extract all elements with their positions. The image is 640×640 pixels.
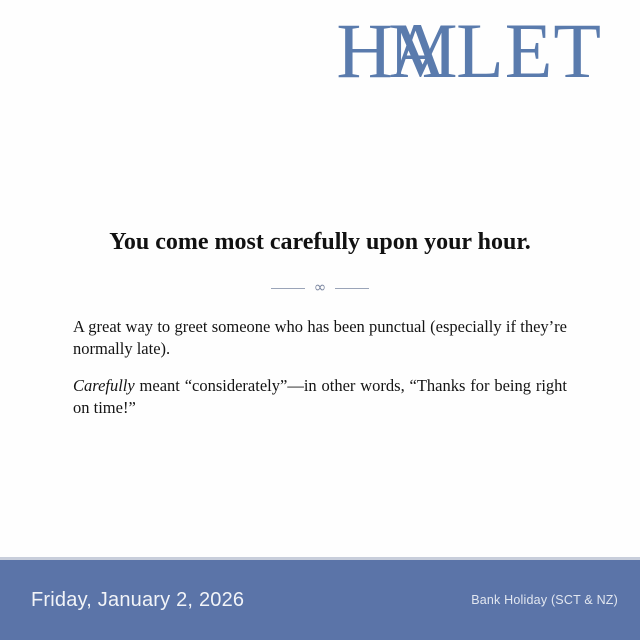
ornament-divider: ∞ [0,281,640,296]
infinity-flourish-icon: ∞ [314,280,327,295]
paragraph-2-lead-italic: Carefully [73,376,135,395]
commentary-paragraph-2: Carefully meant “considerately”—in other… [73,375,567,420]
quote-card: HMAMLET You come most carefully upon you… [0,0,640,640]
footer-bar: Friday, January 2, 2026 Bank Holiday (SC… [0,560,640,640]
paragraph-2-text: meant “considerately”—in other words, “T… [73,376,567,417]
commentary-body: A great way to greet someone who has bee… [73,316,567,419]
logo-am-ligature: MAM [394,12,456,90]
hamlet-logo: HMAMLET [336,12,602,90]
logo-letters-let: LET [456,12,602,90]
masthead: HMAMLET [0,0,620,120]
footer-date: Friday, January 2, 2026 [31,589,244,612]
ornament-rule-left [271,288,305,289]
paragraph-1-text: A great way to greet someone who has bee… [73,317,567,358]
commentary-paragraph-1: A great way to greet someone who has bee… [73,316,567,361]
ornament-rule-right [335,288,369,289]
logo-letter-m: M [388,12,458,90]
logo-letter-h: H [336,12,393,90]
footer-holiday-note: Bank Holiday (SCT & NZ) [471,593,618,607]
quote-headline: You come most carefully upon your hour. [40,228,600,257]
